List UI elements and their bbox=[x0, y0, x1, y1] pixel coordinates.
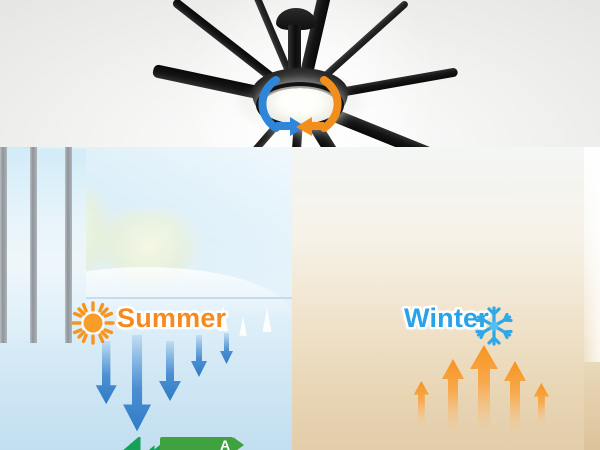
energy-rating-bars: ABCDEFG bbox=[160, 437, 285, 450]
window-mullion bbox=[30, 147, 37, 343]
winter-airflow-arrows bbox=[404, 337, 564, 447]
floor bbox=[584, 362, 600, 450]
energy-bar-letter: A bbox=[220, 437, 230, 450]
sailboat bbox=[263, 308, 272, 331]
product-feature-image: Summer Winter bbox=[0, 0, 600, 450]
rotation-direction-arrows bbox=[230, 66, 370, 144]
energy-bar-tip bbox=[233, 437, 244, 450]
window-mullion bbox=[0, 147, 7, 343]
wall-column bbox=[584, 147, 600, 387]
ceiling-fan-photo bbox=[0, 0, 600, 147]
summer-airflow-arrows bbox=[96, 333, 266, 450]
split-season-scene: Summer Winter bbox=[0, 147, 600, 450]
summer-label: Summer bbox=[117, 303, 226, 334]
window-pane bbox=[37, 149, 65, 339]
